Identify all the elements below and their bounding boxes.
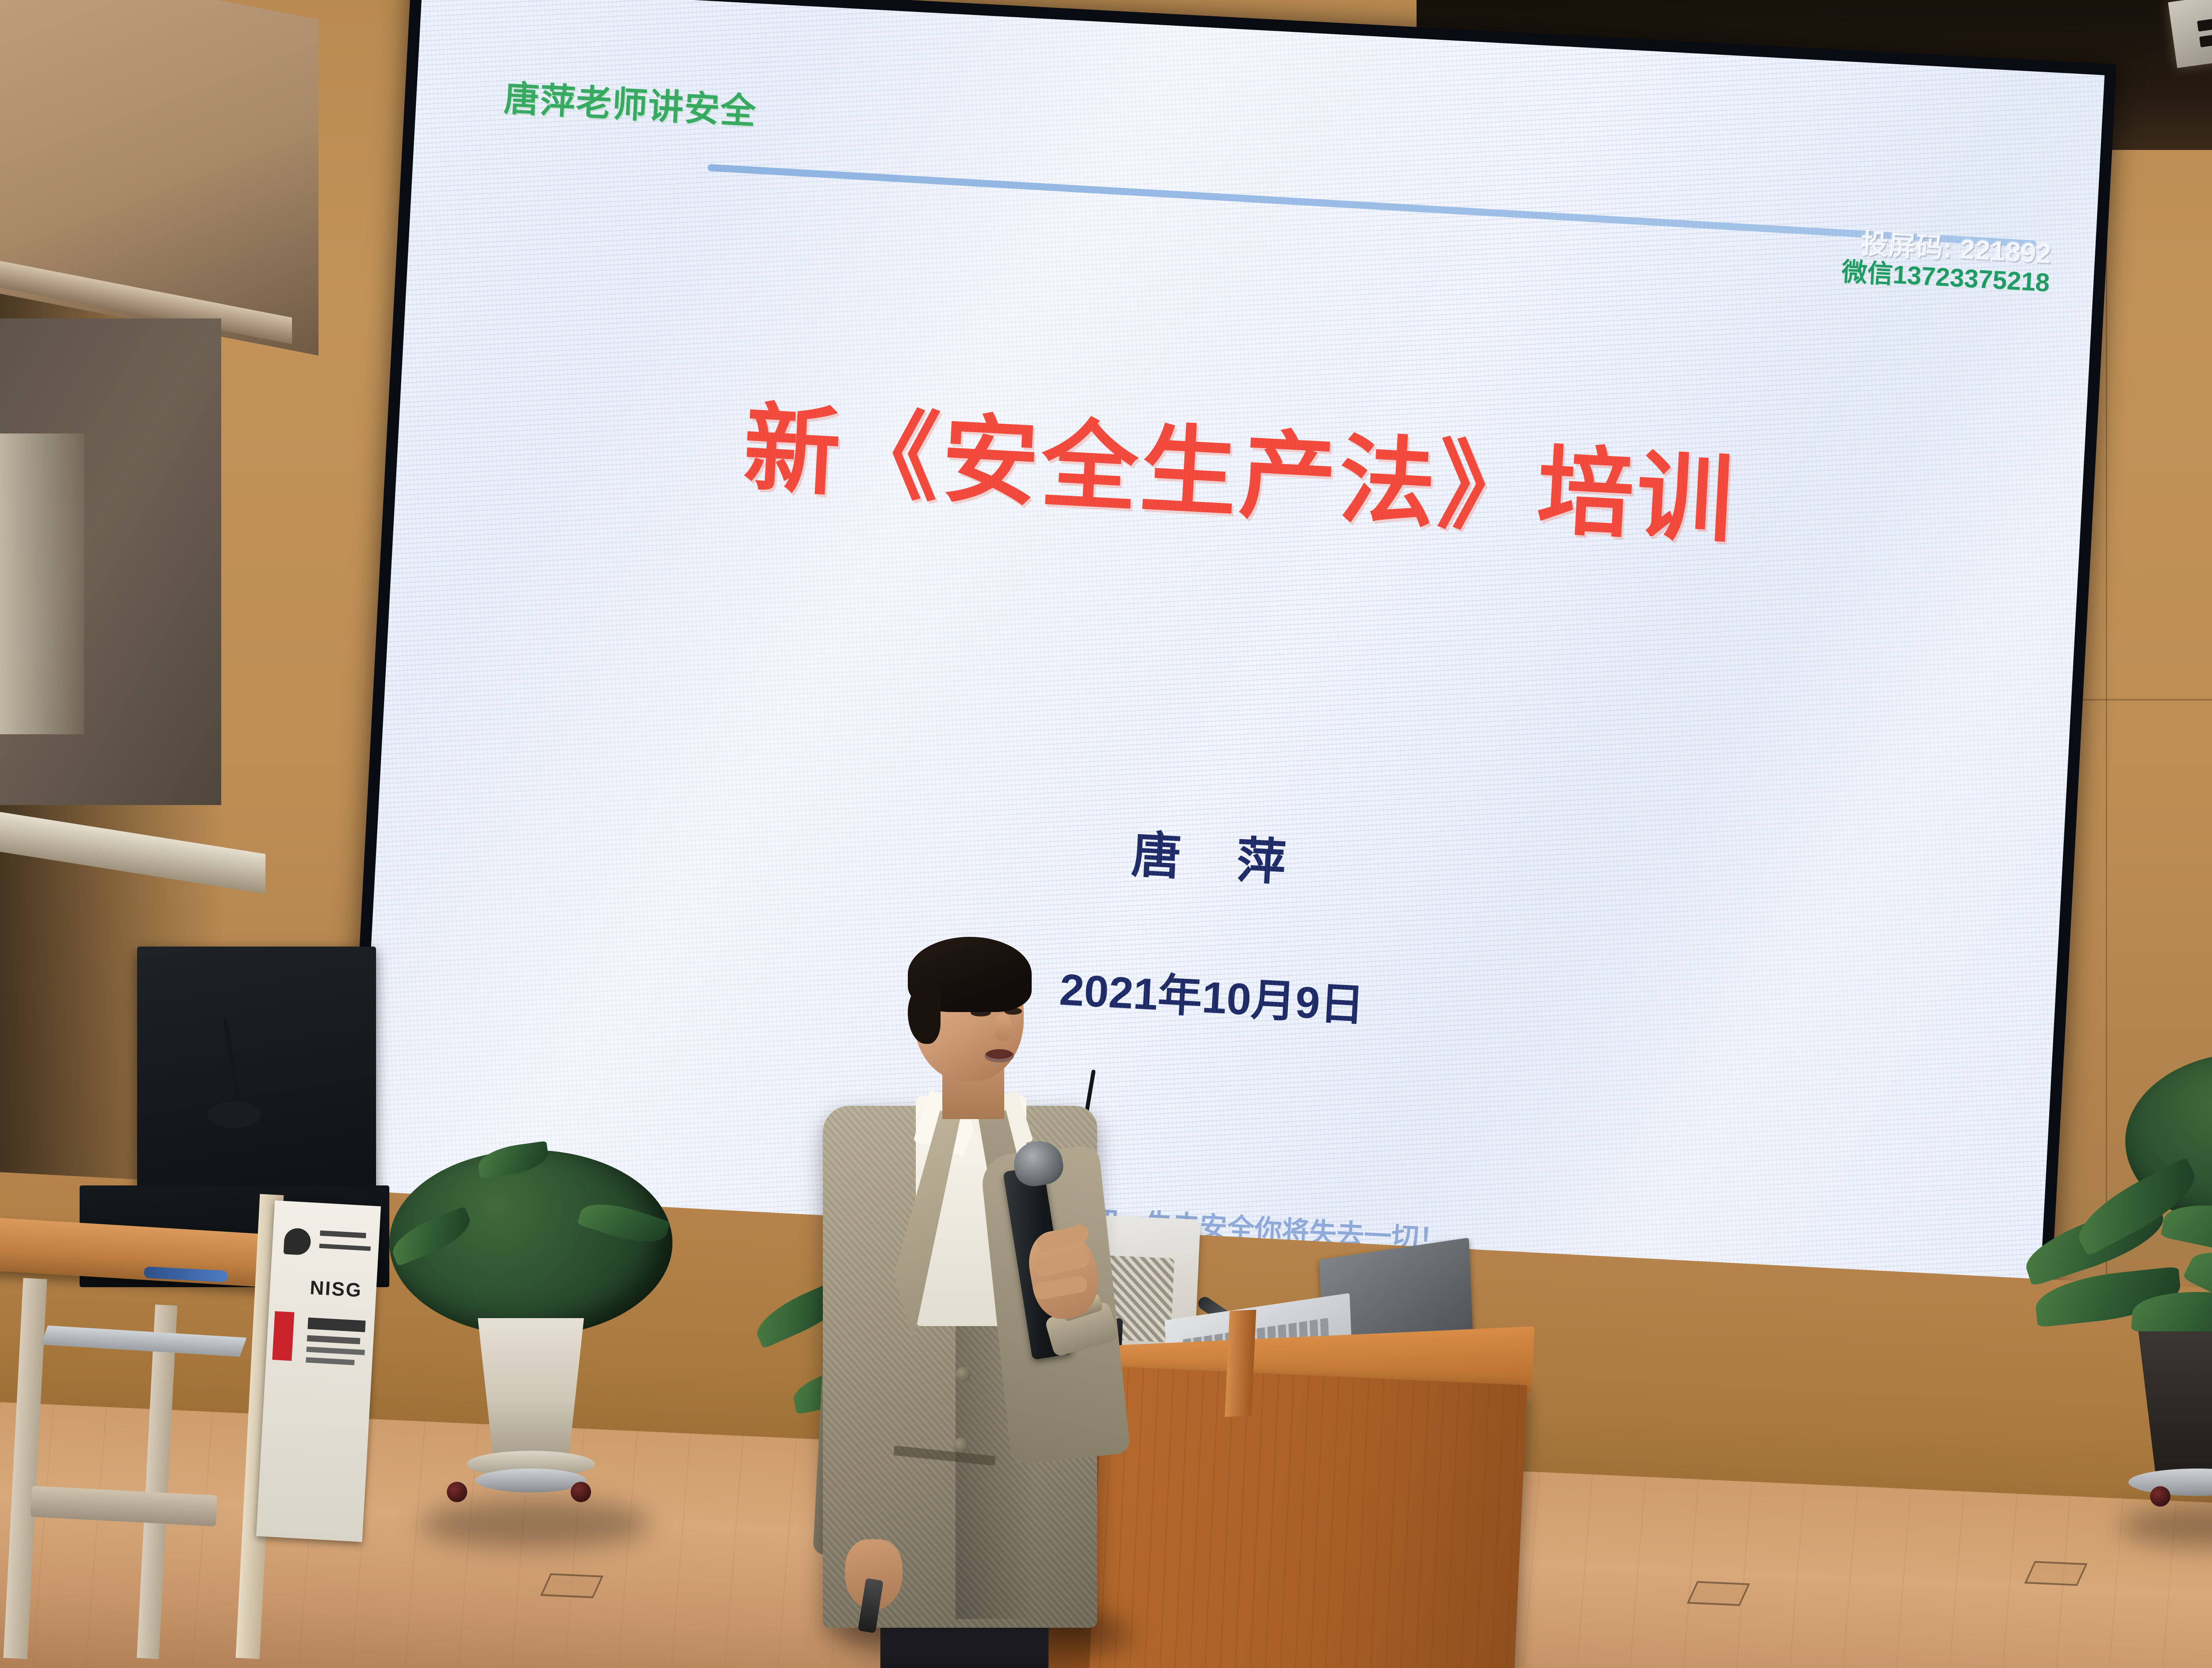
- floor-outlet: [1687, 1581, 1750, 1606]
- left-alcove: [0, 0, 310, 951]
- slide-presenter: 唐 萍: [1130, 815, 1309, 896]
- hair-sideburn: [908, 986, 941, 1044]
- av-control-knob[interactable]: [208, 1101, 261, 1128]
- plant-caster: [2150, 1486, 2170, 1507]
- poster-line: [319, 1244, 371, 1251]
- slide-accent-line: [708, 164, 2037, 247]
- presenter-figure: [810, 920, 1128, 1668]
- plant-pot: [465, 1318, 597, 1464]
- standing-poster[interactable]: NISG: [256, 1200, 381, 1542]
- potted-plant-left: [380, 1132, 681, 1575]
- plant-pot: [2124, 1331, 2212, 1477]
- plant-caster: [571, 1482, 591, 1502]
- alcove-light: [0, 433, 84, 734]
- plant-shadow: [2119, 1504, 2212, 1548]
- potted-plant-right-front: [2017, 1141, 2212, 1668]
- photo-scene: 唐萍老师讲安全 投屏码: 221892 微信13723375218 新《安全生产…: [0, 0, 2212, 1668]
- poster-line: [306, 1346, 365, 1355]
- blazer-button: [953, 1438, 968, 1453]
- plant-caster-plate: [476, 1469, 586, 1492]
- poster-line: [306, 1357, 354, 1365]
- alcove-sill: [0, 809, 265, 893]
- plant-caster-plate: [2128, 1469, 2212, 1496]
- mouth: [985, 1049, 1014, 1062]
- slide-corner-info: 投屏码: 221892 微信13723375218: [1841, 229, 2052, 297]
- poster-line: [320, 1231, 366, 1239]
- floor-outlet: [540, 1573, 603, 1598]
- poster-line: [307, 1318, 365, 1332]
- slide-kicker: 唐萍老师讲安全: [503, 70, 758, 134]
- poster-logo-icon: [284, 1227, 311, 1255]
- poster-line: [307, 1335, 361, 1344]
- poster-headline: NISG: [309, 1277, 363, 1302]
- nose: [995, 1014, 1012, 1041]
- poster-red-block: [272, 1311, 294, 1361]
- slide-title: 新《安全生产法》培训: [741, 369, 1740, 562]
- plant-caster: [447, 1482, 467, 1502]
- blazer-button: [956, 1367, 971, 1382]
- podium-rail: [1225, 1310, 1256, 1417]
- plant-shadow: [420, 1499, 650, 1548]
- control-monitor[interactable]: [137, 947, 376, 1208]
